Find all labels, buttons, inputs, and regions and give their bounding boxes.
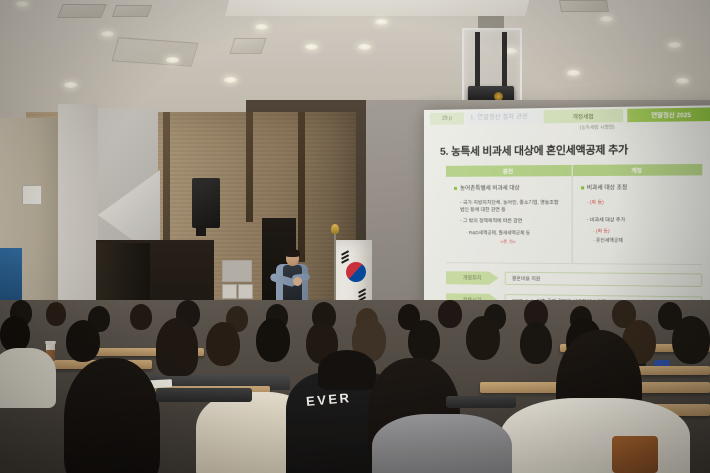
wall-switch-1[interactable] bbox=[222, 284, 237, 299]
drink-lid-icon bbox=[45, 341, 56, 345]
audience-shoulders-white bbox=[500, 398, 690, 473]
slide-row-purpose: 개정취지 결혼비용 지원 bbox=[446, 270, 702, 288]
lecture-hall-photo: 29 p 1. 연말정산 절차 관련 개정세법 연말정산 2025 (농특세법 … bbox=[0, 0, 710, 473]
slide-top-bar: 29 p 1. 연말정산 절차 관련 개정세법 연말정산 2025 bbox=[424, 105, 710, 130]
presenter-hair bbox=[285, 249, 300, 257]
wall-switch-2[interactable] bbox=[238, 284, 253, 299]
audience-head bbox=[0, 316, 30, 352]
before-note: <추 가> bbox=[454, 239, 563, 246]
audience-head bbox=[520, 322, 552, 364]
audience-head-near-left bbox=[64, 358, 160, 473]
wall-sign-plate bbox=[222, 260, 252, 282]
audience-head bbox=[466, 316, 500, 360]
slide-title: 5. 농특세 비과세 대상에 혼인세액공제 추가 bbox=[440, 142, 628, 159]
bullet-square-icon bbox=[454, 187, 457, 190]
bullet-square-icon bbox=[581, 186, 584, 189]
slide-subcaption: (농특세법 시행령) bbox=[580, 124, 615, 131]
downlight-4 bbox=[64, 82, 77, 88]
chair-back[interactable] bbox=[446, 396, 516, 408]
slide-section-label: 1. 연말정산 절차 관련 bbox=[470, 111, 528, 121]
downlight-13 bbox=[668, 42, 681, 48]
before-item-2: - 그 밖의 정책목적에 따른 감면 bbox=[460, 218, 563, 225]
downlight-9 bbox=[375, 19, 388, 25]
downlight-2 bbox=[101, 31, 114, 37]
after-bullet: 비과세 대상 조정 bbox=[581, 183, 694, 192]
row-text-purpose: 결혼비용 지원 bbox=[505, 272, 703, 287]
slide-comparison-table: 종전 개정 농어촌특별세 비과세 대상 - 국가·지방자치단체, 농어민, 중소… bbox=[446, 164, 702, 264]
wall-speaker bbox=[192, 178, 220, 228]
audience-head bbox=[66, 320, 100, 362]
audience-head bbox=[46, 302, 66, 326]
projector-strut-left bbox=[475, 32, 480, 92]
before-bullet: 농어촌특별세 비과세 대상 bbox=[454, 183, 563, 192]
table-cell-after: 비과세 대상 조정 - (좌 동) - 비과세 대상 추가 · (좌 동) · … bbox=[571, 175, 702, 264]
downlight-3 bbox=[166, 57, 179, 63]
downlight-8 bbox=[358, 44, 371, 50]
slide-badge: 연말정산 2025 bbox=[627, 107, 710, 122]
chair-back[interactable] bbox=[156, 388, 252, 402]
after-subitem-1: · (좌 동) bbox=[593, 229, 694, 235]
before-item-1: - 국가·지방자치단체, 농어민, 중소기업, 영농조합법인 등에 대한 감면 … bbox=[460, 200, 563, 215]
ceiling-vent-3 bbox=[229, 38, 266, 54]
audience-head bbox=[408, 320, 440, 362]
after-item-2: - 비과세 대상 추가 bbox=[587, 217, 694, 225]
downlight-12 bbox=[567, 70, 580, 76]
flagpole-finial bbox=[331, 224, 339, 234]
phone-device[interactable] bbox=[654, 360, 670, 366]
audience-head bbox=[438, 300, 462, 328]
speaker-bracket bbox=[196, 226, 206, 236]
slide-middle-tab: 개정세법 bbox=[544, 109, 623, 123]
audience-head bbox=[256, 318, 290, 362]
handbag[interactable] bbox=[612, 436, 658, 473]
projector-strut-right bbox=[502, 32, 507, 92]
audience-head bbox=[672, 316, 710, 364]
audience-shoulders bbox=[0, 348, 56, 408]
slide-page-marker: 29 p bbox=[430, 112, 464, 125]
downlight-14 bbox=[676, 78, 689, 84]
ceiling-vent-4 bbox=[112, 5, 152, 17]
row-label-purpose: 개정취지 bbox=[446, 271, 499, 285]
table-body-row: 농어촌특별세 비과세 대상 - 국가·지방자치단체, 농어민, 중소기업, 영농… bbox=[446, 175, 702, 264]
ceiling-vent-1 bbox=[57, 4, 107, 18]
audience-head-long-hair bbox=[156, 318, 198, 376]
downlight-7 bbox=[305, 44, 318, 50]
downlight-1 bbox=[16, 1, 29, 7]
downlight-6 bbox=[255, 24, 268, 30]
table-cell-before: 농어촌특별세 비과세 대상 - 국가·지방자치단체, 농어민, 중소기업, 영농… bbox=[446, 176, 571, 263]
wall-device-box[interactable] bbox=[22, 185, 42, 205]
audience-head bbox=[130, 304, 152, 330]
table-header-before: 종전 bbox=[446, 165, 571, 177]
audience-head bbox=[206, 322, 240, 366]
hoodie-person-head bbox=[318, 350, 376, 390]
after-item-1: - (좌 동) bbox=[587, 199, 694, 207]
audience-shoulders-grey bbox=[372, 414, 512, 473]
table-header-after: 개정 bbox=[571, 164, 702, 176]
before-subitem: · R&D세액공제, 월세세액공제 등 bbox=[466, 230, 563, 236]
after-subitem-2: · 혼인세액공제 bbox=[593, 238, 694, 245]
downlight-5 bbox=[224, 77, 237, 83]
downlight-10 bbox=[600, 16, 613, 22]
projection-screen: 29 p 1. 연말정산 절차 관련 개정세법 연말정산 2025 (농특세법 … bbox=[424, 105, 710, 323]
presenter-hand bbox=[293, 277, 302, 286]
ceiling-skylight bbox=[225, 0, 530, 16]
ceiling-vent-5 bbox=[559, 0, 609, 12]
